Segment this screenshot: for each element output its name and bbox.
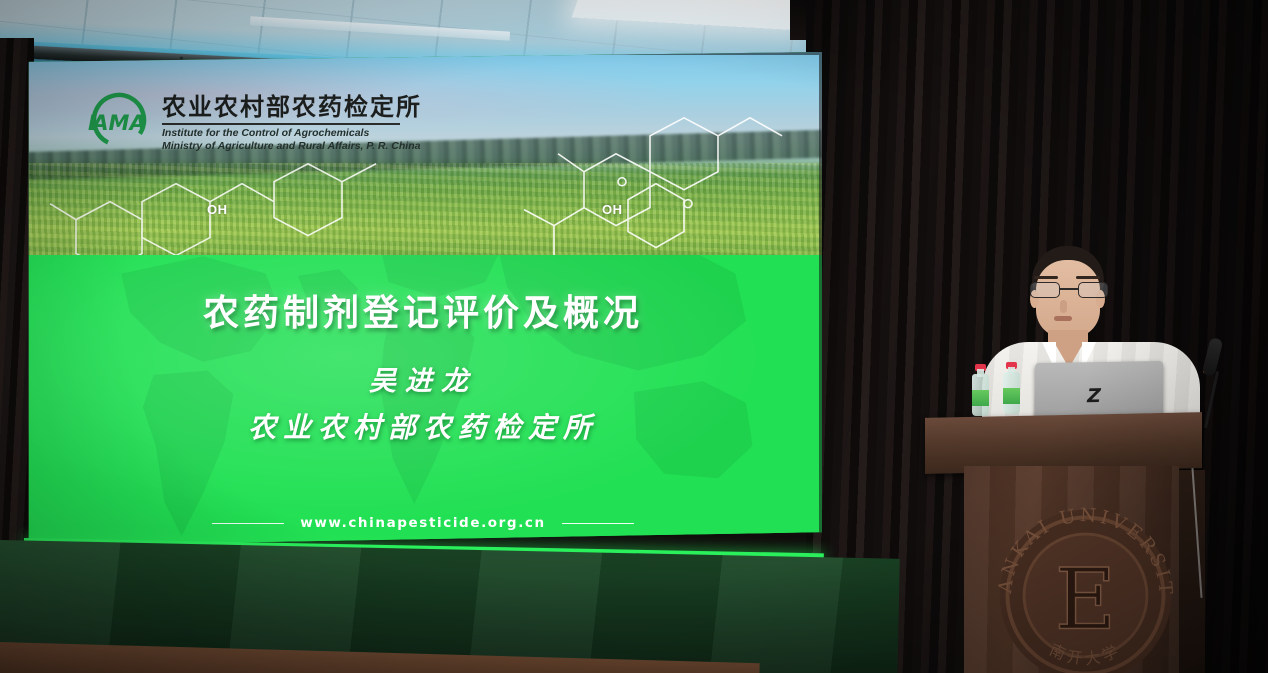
org-name-en-line1: Institute for the Control of Agrochemica…: [162, 127, 422, 140]
slide-affiliation: 农业农村部农药检定所: [24, 406, 822, 446]
presenter-brow-left: [1034, 276, 1058, 279]
podium-top-shelf: [925, 412, 1202, 474]
svg-text:E: E: [1055, 551, 1116, 649]
presentation-scene: OH OH AMA I 农业农村部农药检定所 Institute f: [0, 0, 1268, 673]
icama-logo-text: 农业农村部农药检定所 Institute for the Control of …: [162, 90, 422, 154]
chem-label-oh-right: OH: [602, 202, 623, 217]
bottle-label: [1003, 388, 1020, 404]
presenter-mouth: [1054, 316, 1072, 321]
slide-green-body: 农药制剂登记评价及概况 吴进龙 农业农村部农药检定所 www.chinapest…: [24, 255, 822, 546]
slide-footer-url: www.chinapesticide.org.cn: [300, 515, 546, 531]
eyeglasses-icon: [1028, 282, 1110, 298]
icama-logo-block: AMA I 农业农村部农药检定所 Institute for the Contr…: [84, 90, 422, 154]
chem-label-oh-left: OH: [207, 202, 228, 217]
slide-surface: OH OH AMA I 农业农村部农药检定所 Institute f: [24, 52, 822, 546]
slide-title: 农药制剂登记评价及概况: [24, 284, 822, 336]
laptop[interactable]: Z: [1035, 361, 1163, 421]
org-name-cn: 农业农村部农药检定所: [162, 94, 422, 120]
projection-screen: OH OH AMA I 农业农村部农药检定所 Institute f: [24, 52, 822, 546]
presenter-face: [1036, 260, 1100, 338]
footer-rule-left: [212, 523, 284, 525]
presenter-nose: [1060, 300, 1067, 313]
svg-text:I: I: [88, 111, 96, 135]
footer-rule-right: [562, 523, 634, 525]
slide-footer: www.chinapesticide.org.cn: [24, 515, 822, 531]
icama-logo-icon: AMA I: [84, 90, 154, 150]
svg-text:AMA: AMA: [90, 111, 145, 135]
laptop-brand-logo: Z: [1083, 388, 1105, 404]
banner-crop-field: [24, 163, 822, 254]
org-name-en-line2: Ministry of Agriculture and Rural Affair…: [162, 140, 422, 153]
water-bottle: [1003, 362, 1020, 414]
slide-presenter-name: 吴进龙: [24, 359, 822, 398]
slide-banner-photo: OH OH AMA I 农业农村部农药检定所 Institute f: [24, 52, 822, 255]
nankai-university-emblem: NANKAI UNIVERSITY 南开大学 E: [988, 498, 1183, 673]
presenter-brow-right: [1076, 276, 1100, 279]
water-bottle: [972, 364, 989, 416]
bottle-label: [972, 390, 989, 406]
logo-divider: [162, 123, 400, 125]
